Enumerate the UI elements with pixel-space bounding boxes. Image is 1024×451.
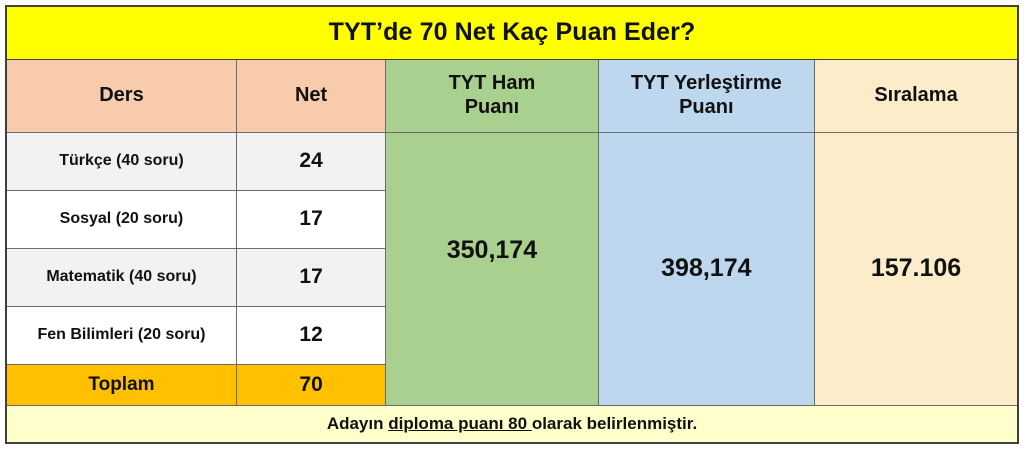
subject-net-sosyal: 17 xyxy=(236,190,385,248)
value-siralama: 157.106 xyxy=(815,132,1018,405)
subject-name-fen-bilimleri: Fen Bilimleri (20 soru) xyxy=(6,306,236,364)
value-yerlestirme-puani: 398,174 xyxy=(598,132,814,405)
spreadsheet-canvas: TYT’de 70 Net Kaç Puan Eder? Ders Net TY… xyxy=(0,0,1024,451)
table-row: Türkçe (40 soru) 24 350,174 398,174 157.… xyxy=(6,132,1018,190)
subject-name-matematik: Matematik (40 soru) xyxy=(6,248,236,306)
tyt-score-table: TYT’de 70 Net Kaç Puan Eder? Ders Net TY… xyxy=(5,5,1019,444)
footer-row: Adayın diploma puanı 80 olarak belirlenm… xyxy=(6,405,1018,443)
column-header-yerlestirme-puani-line2: Puanı xyxy=(599,96,814,120)
column-header-yerlestirme-puani: TYT Yerleştirme Puanı xyxy=(598,59,814,132)
title-row: TYT’de 70 Net Kaç Puan Eder? xyxy=(6,6,1018,59)
total-label: Toplam xyxy=(6,364,236,405)
page-title: TYT’de 70 Net Kaç Puan Eder? xyxy=(6,6,1018,59)
value-ham-puani: 350,174 xyxy=(386,132,598,405)
footer-note-suffix: olarak belirlenmiştir. xyxy=(532,414,697,433)
subject-name-sosyal: Sosyal (20 soru) xyxy=(6,190,236,248)
subject-net-matematik: 17 xyxy=(236,248,385,306)
total-net: 70 xyxy=(236,364,385,405)
table-header-row: Ders Net TYT Ham Puanı TYT Yerleştirme P… xyxy=(6,59,1018,132)
column-header-yerlestirme-puani-line1: TYT Yerleştirme xyxy=(599,72,814,96)
column-header-ham-puani-line1: TYT Ham xyxy=(386,72,597,96)
footer-note-highlight: diploma puanı 80 xyxy=(388,414,532,433)
value-yerlestirme-puani-text: 398,174 xyxy=(599,254,814,283)
footer-note-prefix: Adayın xyxy=(327,414,388,433)
column-header-net: Net xyxy=(236,59,385,132)
value-siralama-text: 157.106 xyxy=(815,254,1017,283)
footer-note: Adayın diploma puanı 80 olarak belirlenm… xyxy=(6,405,1018,443)
column-header-ders: Ders xyxy=(6,59,236,132)
subject-net-turkce: 24 xyxy=(236,132,385,190)
subject-net-fen-bilimleri: 12 xyxy=(236,306,385,364)
column-header-ham-puani-line2: Puanı xyxy=(386,96,597,120)
column-header-siralama: Sıralama xyxy=(815,59,1018,132)
column-header-ham-puani: TYT Ham Puanı xyxy=(386,59,598,132)
value-ham-puani-text: 350,174 xyxy=(386,236,597,265)
subject-name-turkce: Türkçe (40 soru) xyxy=(6,132,236,190)
